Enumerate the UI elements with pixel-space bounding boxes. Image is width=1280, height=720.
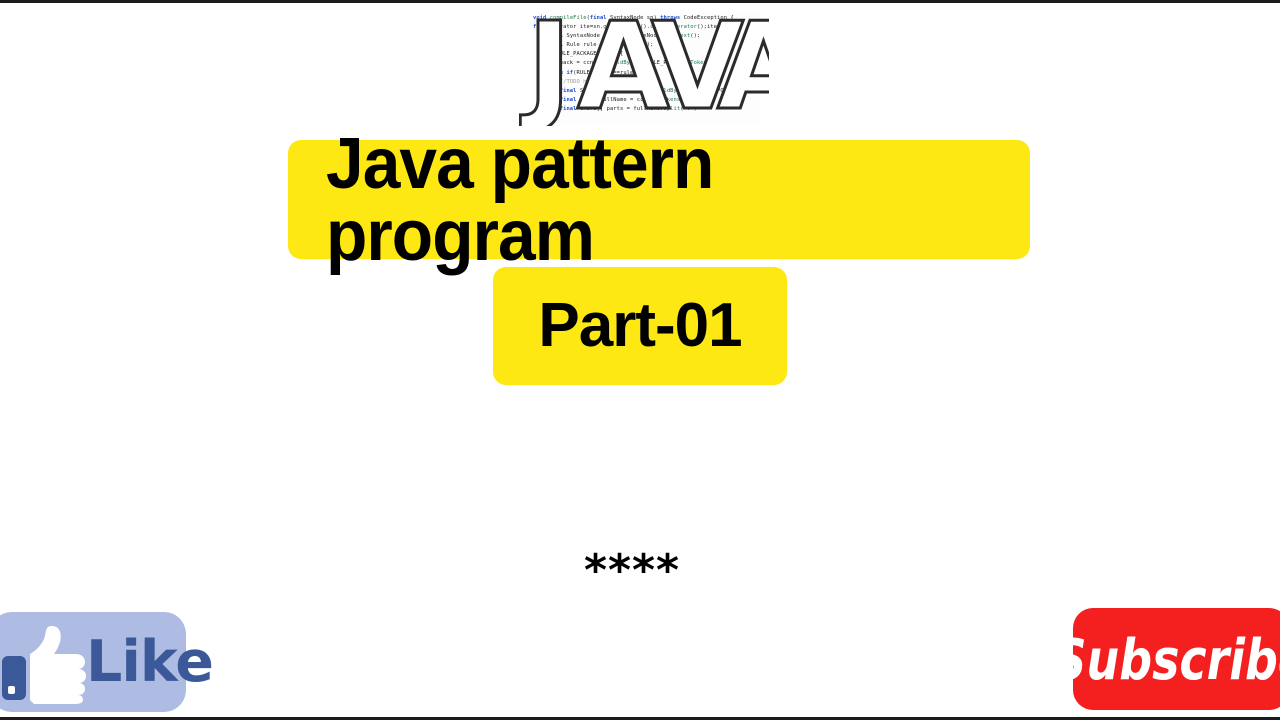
pattern-row: **** [584, 536, 680, 606]
like-button[interactable]: Like [0, 612, 186, 712]
video-thumbnail-canvas: void compileFile(final SyntaxNode sn) th… [0, 0, 1280, 720]
java-letter-j: J [520, 8, 574, 126]
subscribe-button[interactable]: Subscribe [1073, 608, 1280, 710]
like-button-label: Like [86, 629, 213, 695]
title-banner: Java pattern program [288, 140, 1030, 259]
part-banner: Part-01 [493, 267, 787, 385]
thumbs-up-icon [2, 624, 88, 704]
part-banner-text: Part-01 [538, 295, 741, 357]
star-pattern-output: **** **** **** **** [584, 396, 680, 720]
top-border-line [0, 0, 1280, 3]
java-wordmark-letters: .jl { fill: #ffffff; stroke: #2b2b2b; st… [519, 8, 769, 126]
title-banner-text: Java pattern program [326, 128, 988, 272]
subscribe-button-label: Subscribe [1053, 626, 1280, 692]
java-letter-a2: A [717, 8, 769, 126]
java-logo: void compileFile(final SyntaxNode sn) th… [519, 8, 769, 126]
